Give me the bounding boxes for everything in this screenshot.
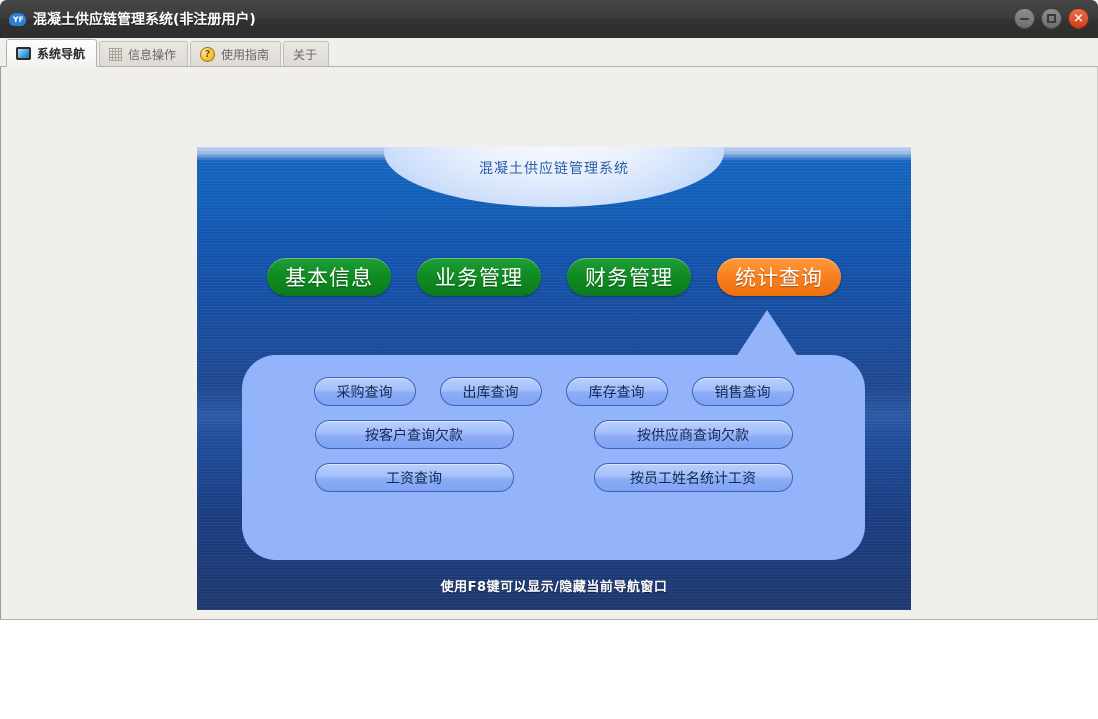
- nav-button-finance-management[interactable]: 财务管理: [567, 258, 691, 296]
- nav-button-business-management[interactable]: 业务管理: [417, 258, 541, 296]
- close-button[interactable]: ×: [1068, 8, 1089, 29]
- nav-button-label: 统计查询: [735, 262, 823, 292]
- app-cloud-icon: ʏꜰ: [9, 11, 26, 28]
- close-icon: ×: [1073, 12, 1084, 25]
- window-title: 混凝土供应链管理系统(非注册用户): [33, 9, 256, 29]
- submenu-row-3: 工资查询 按员工姓名统计工资: [242, 463, 865, 492]
- submenu-row-2: 按客户查询欠款 按供应商查询欠款: [242, 420, 865, 449]
- content-area: 混凝土供应链管理系统 基本信息 业务管理 财务管理 统计查询: [0, 67, 1098, 620]
- minimize-icon: [1020, 18, 1029, 20]
- navigation-board: 混凝土供应链管理系统 基本信息 业务管理 财务管理 统计查询: [197, 147, 911, 610]
- submenu-button-customer-debt-query[interactable]: 按客户查询欠款: [315, 420, 514, 449]
- board-title: 混凝土供应链管理系统: [197, 158, 911, 178]
- window-controls: ×: [1014, 8, 1089, 29]
- application-window: ʏꜰ 混凝土供应链管理系统(非注册用户) × 系统导航 信息操作 ? 使: [0, 0, 1098, 620]
- submenu-button-outbound-query[interactable]: 出库查询: [440, 377, 542, 406]
- submenu-button-purchase-query[interactable]: 采购查询: [314, 377, 416, 406]
- main-nav-group: 基本信息 业务管理 财务管理 统计查询: [197, 258, 911, 296]
- submenu-button-label: 采购查询: [337, 382, 393, 402]
- maximize-button[interactable]: [1041, 8, 1062, 29]
- tab-strip: 系统导航 信息操作 ? 使用指南 关于: [0, 38, 1098, 67]
- maximize-icon: [1047, 14, 1056, 23]
- submenu-button-label: 库存查询: [589, 382, 645, 402]
- help-icon: ?: [200, 47, 215, 62]
- nav-button-label: 业务管理: [435, 262, 523, 292]
- tab-about[interactable]: 关于: [283, 41, 329, 66]
- nav-button-label: 财务管理: [585, 262, 673, 292]
- nav-button-statistics-query[interactable]: 统计查询: [717, 258, 841, 296]
- submenu-button-label: 按供应商查询欠款: [637, 425, 749, 445]
- tab-label: 系统导航: [37, 45, 85, 62]
- board-hint-text: 使用F8键可以显示/隐藏当前导航窗口: [197, 576, 911, 595]
- submenu-panel: 采购查询 出库查询 库存查询 销售查询 按客户查询欠款: [242, 355, 865, 560]
- submenu-button-salary-query[interactable]: 工资查询: [315, 463, 514, 492]
- nav-button-basic-info[interactable]: 基本信息: [267, 258, 391, 296]
- tab-user-guide[interactable]: ? 使用指南: [190, 41, 281, 66]
- callout-pointer-icon: [734, 310, 800, 360]
- submenu-button-supplier-debt-query[interactable]: 按供应商查询欠款: [594, 420, 793, 449]
- submenu-row-1: 采购查询 出库查询 库存查询 销售查询: [242, 377, 865, 406]
- submenu-button-label: 销售查询: [715, 382, 771, 402]
- title-bar: ʏꜰ 混凝土供应链管理系统(非注册用户) ×: [0, 0, 1098, 38]
- minimize-button[interactable]: [1014, 8, 1035, 29]
- grid-icon: [109, 48, 122, 61]
- tab-information-operation[interactable]: 信息操作: [99, 41, 188, 66]
- submenu-button-label: 按客户查询欠款: [365, 425, 463, 445]
- tab-label: 使用指南: [221, 46, 269, 63]
- submenu-button-label: 按员工姓名统计工资: [630, 468, 756, 488]
- tab-label: 信息操作: [128, 46, 176, 63]
- submenu-button-salary-by-employee-name[interactable]: 按员工姓名统计工资: [594, 463, 793, 492]
- monitor-icon: [16, 47, 31, 60]
- submenu-button-sales-query[interactable]: 销售查询: [692, 377, 794, 406]
- submenu-button-label: 出库查询: [463, 382, 519, 402]
- nav-button-label: 基本信息: [285, 262, 373, 292]
- submenu-button-inventory-query[interactable]: 库存查询: [566, 377, 668, 406]
- tab-label: 关于: [293, 46, 317, 63]
- tab-system-navigation[interactable]: 系统导航: [6, 39, 97, 67]
- submenu-button-label: 工资查询: [386, 468, 442, 488]
